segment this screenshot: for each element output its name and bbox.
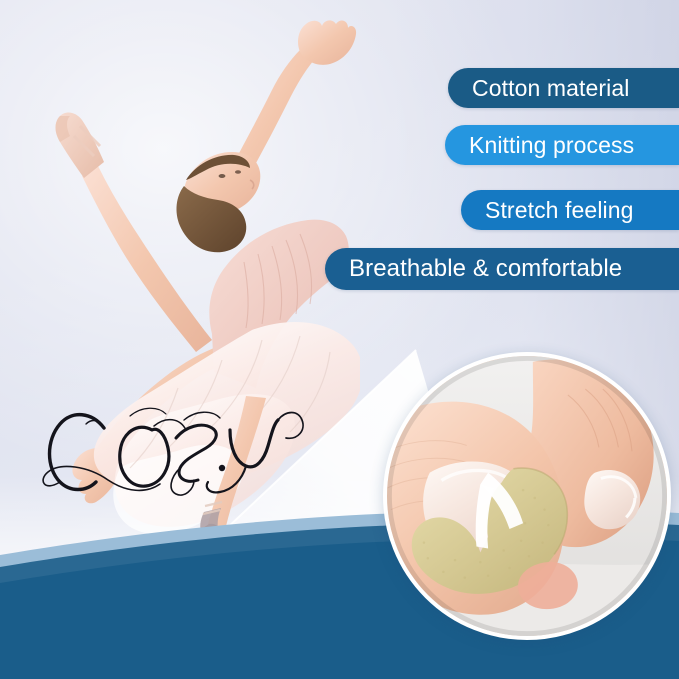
feature-badge-knitting-process[interactable]: Knitting process — [445, 125, 679, 165]
feature-badge-label: Stretch feeling — [485, 197, 634, 224]
product-marketing-image: Cotton material Knitting process Stretch… — [0, 0, 679, 679]
toe-callout-dot[interactable] — [199, 538, 218, 557]
feature-badge-cotton-material[interactable]: Cotton material — [448, 68, 679, 108]
feature-badge-list: Cotton material Knitting process Stretch… — [0, 0, 679, 300]
feature-badge-label: Cotton material — [472, 75, 629, 102]
feature-badge-label: Breathable & comfortable — [349, 255, 622, 283]
feature-badge-stretch-feeling[interactable]: Stretch feeling — [461, 190, 679, 230]
feature-badge-label: Knitting process — [469, 132, 634, 159]
feature-badge-breathable-comfortable[interactable]: Breathable & comfortable — [325, 248, 679, 290]
toe-closeup-photo — [383, 352, 671, 640]
